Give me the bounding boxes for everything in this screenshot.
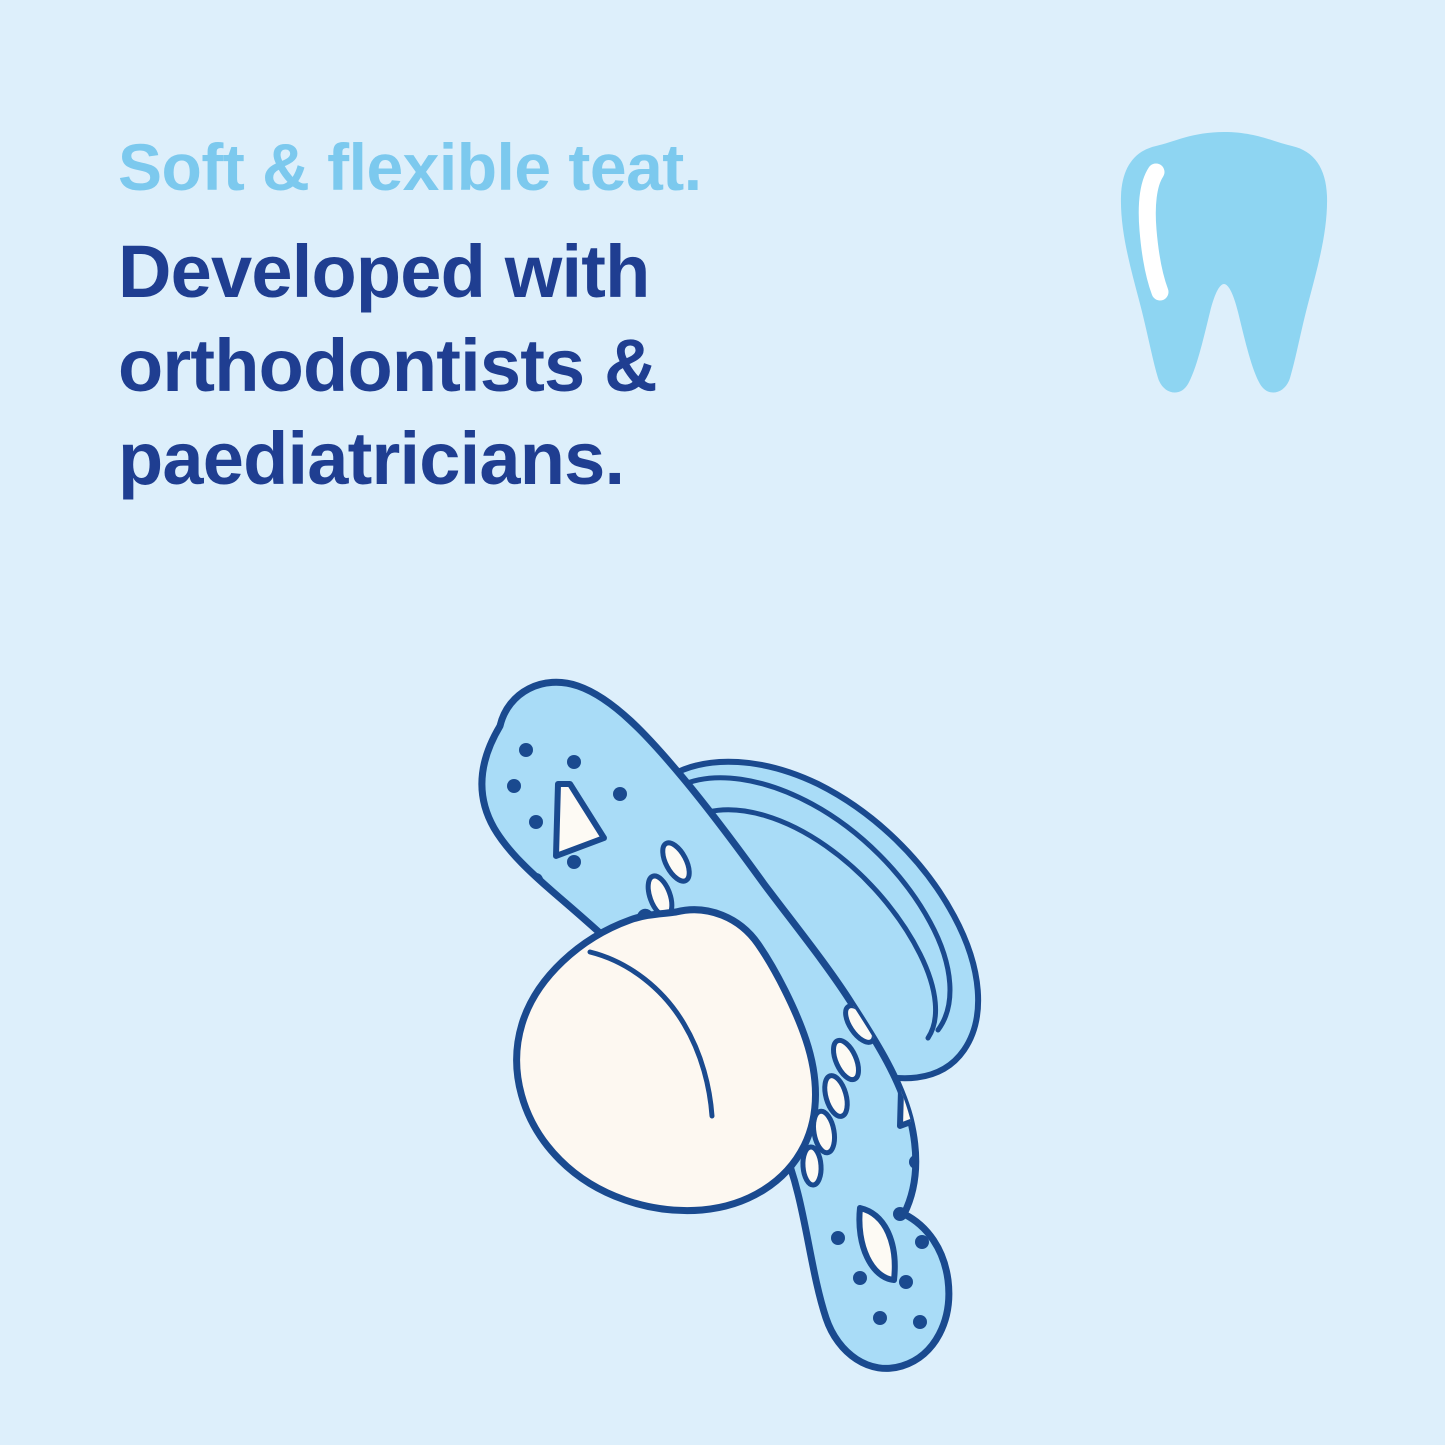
feature-card-canvas: Soft & flexible teat. Developed with ort… bbox=[0, 0, 1445, 1445]
page-title: Developed with orthodontists & paediatri… bbox=[118, 225, 1058, 505]
copy-block: Soft & flexible teat. Developed with ort… bbox=[118, 132, 1058, 505]
headline-line-2: orthodontists & bbox=[118, 319, 1058, 412]
eyebrow-text: Soft & flexible teat. bbox=[118, 132, 1058, 203]
headline-line-1: Developed with bbox=[118, 225, 1058, 318]
pacifier-illustration bbox=[408, 666, 1058, 1376]
tooth-icon bbox=[1118, 126, 1330, 398]
headline-line-3: paediatricians. bbox=[118, 412, 1058, 505]
